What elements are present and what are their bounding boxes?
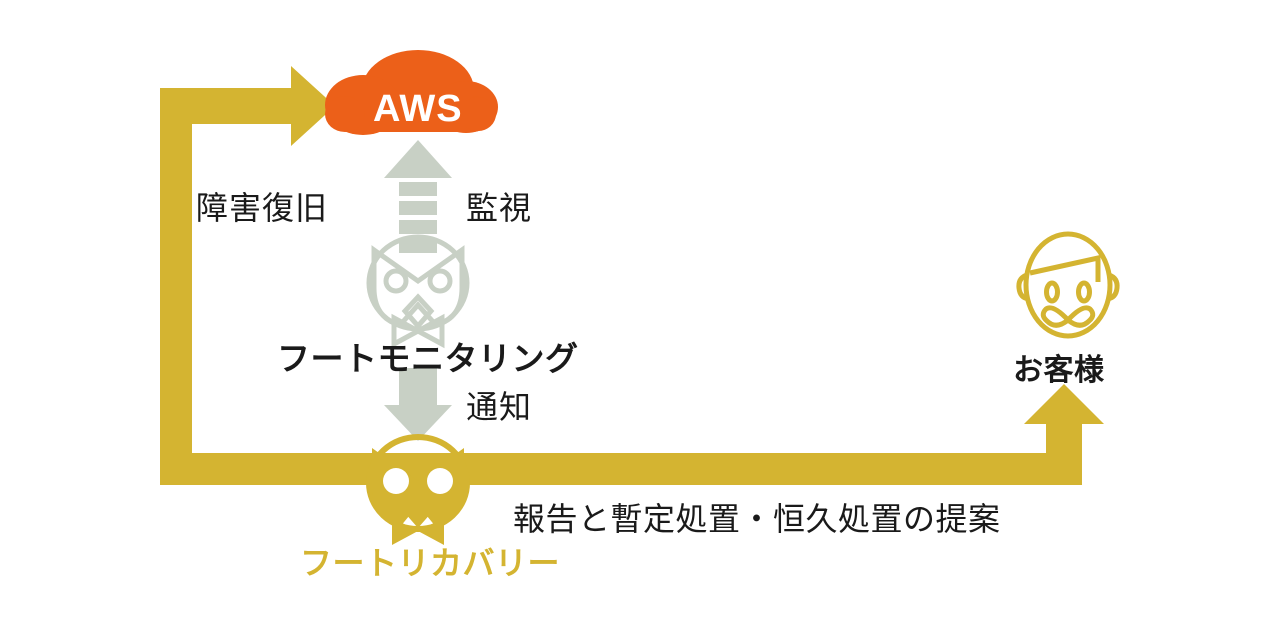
hoot-recovery-label: フートリカバリー: [300, 538, 560, 584]
hoot-monitoring-label: フートモニタリング: [277, 332, 579, 380]
diagram-canvas: AWS 障害復旧 監視 フートモニタリング 通知 報告と暫定処置・恒久処置の提案…: [0, 0, 1280, 640]
customer-label: お客様: [1013, 345, 1105, 389]
customer-person-icon: [1019, 234, 1117, 336]
aws-label: AWS: [373, 88, 463, 131]
customer-icon-layer: [0, 0, 1280, 640]
notify-flow-label: 通知: [466, 382, 532, 428]
recovery-flow-label: 障害復旧: [196, 183, 328, 229]
report-flow-label: 報告と暫定処置・恒久処置の提案: [513, 494, 1001, 540]
monitoring-flow-label: 監視: [466, 183, 532, 229]
